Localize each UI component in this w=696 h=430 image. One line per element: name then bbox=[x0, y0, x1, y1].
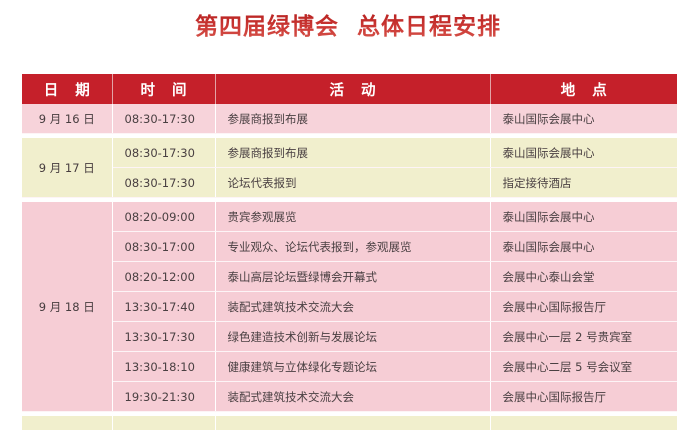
cell-activity: 参展商报到布展 bbox=[215, 104, 490, 134]
cell-activity: 装配式建筑技术交流大会 bbox=[215, 292, 490, 322]
cell-time: 13:30-18:10 bbox=[112, 352, 215, 382]
cell-location: 泰山国际会展中心 bbox=[490, 232, 677, 262]
cell-activity: 绿色建造技术创新与发展论坛 bbox=[215, 322, 490, 352]
table-row: 19:30-21:30装配式建筑技术交流大会会展中心国际报告厅 bbox=[22, 382, 677, 412]
cell-location: 会展中心国际报告厅 bbox=[490, 382, 677, 412]
table-row: 08:20-12:00泰山高层论坛暨绿博会开幕式会展中心泰山会堂 bbox=[22, 262, 677, 292]
table-row: 9 月 18 日08:20-09:00贵宾参观展览泰山国际会展中心 bbox=[22, 202, 677, 232]
column-header-location: 地 点 bbox=[490, 74, 677, 104]
cell-clipped bbox=[22, 416, 112, 430]
cell-activity: 泰山高层论坛暨绿博会开幕式 bbox=[215, 262, 490, 292]
cell-time: 08:30-17:30 bbox=[112, 138, 215, 168]
cell-location: 泰山国际会展中心 bbox=[490, 104, 677, 134]
cell-time: 13:30-17:30 bbox=[112, 322, 215, 352]
column-header-date: 日 期 bbox=[22, 74, 112, 104]
table-row: 9 月 17 日08:30-17:30参展商报到布展泰山国际会展中心 bbox=[22, 138, 677, 168]
cell-location: 会展中心泰山会堂 bbox=[490, 262, 677, 292]
cell-time: 08:20-12:00 bbox=[112, 262, 215, 292]
cell-clipped bbox=[490, 416, 677, 430]
table-row-clipped bbox=[22, 416, 677, 430]
schedule-table: 日 期 时 间 活 动 地 点 9 月 16 日08:30-17:30参展商报到… bbox=[22, 74, 677, 430]
page-title: 第四届绿博会 总体日程安排 bbox=[0, 12, 696, 42]
cell-date: 9 月 18 日 bbox=[22, 202, 112, 412]
cell-activity: 装配式建筑技术交流大会 bbox=[215, 382, 490, 412]
cell-time: 08:30-17:30 bbox=[112, 168, 215, 198]
cell-location: 泰山国际会展中心 bbox=[490, 138, 677, 168]
table-row: 08:30-17:30论坛代表报到指定接待酒店 bbox=[22, 168, 677, 198]
cell-activity: 专业观众、论坛代表报到，参观展览 bbox=[215, 232, 490, 262]
table-row: 13:30-17:30绿色建造技术创新与发展论坛会展中心一层 2 号贵宾室 bbox=[22, 322, 677, 352]
table-header-row: 日 期 时 间 活 动 地 点 bbox=[22, 74, 677, 104]
table-row: 08:30-17:00专业观众、论坛代表报到，参观展览泰山国际会展中心 bbox=[22, 232, 677, 262]
cell-activity: 参展商报到布展 bbox=[215, 138, 490, 168]
cell-location: 指定接待酒店 bbox=[490, 168, 677, 198]
schedule-page: 第四届绿博会 总体日程安排 日 期 时 间 活 动 地 点 9 月 16 日08… bbox=[0, 0, 696, 420]
cell-time: 08:20-09:00 bbox=[112, 202, 215, 232]
cell-location: 会展中心国际报告厅 bbox=[490, 292, 677, 322]
cell-location: 会展中心二层 5 号会议室 bbox=[490, 352, 677, 382]
table-row: 9 月 16 日08:30-17:30参展商报到布展泰山国际会展中心 bbox=[22, 104, 677, 134]
table-row: 13:30-17:40装配式建筑技术交流大会会展中心国际报告厅 bbox=[22, 292, 677, 322]
table-body: 9 月 16 日08:30-17:30参展商报到布展泰山国际会展中心9 月 17… bbox=[22, 104, 677, 430]
cell-time: 19:30-21:30 bbox=[112, 382, 215, 412]
cell-activity: 论坛代表报到 bbox=[215, 168, 490, 198]
cell-time: 08:30-17:30 bbox=[112, 104, 215, 134]
cell-location: 泰山国际会展中心 bbox=[490, 202, 677, 232]
cell-date: 9 月 17 日 bbox=[22, 138, 112, 198]
table-header: 日 期 时 间 活 动 地 点 bbox=[22, 74, 677, 104]
cell-activity: 健康建筑与立体绿化专题论坛 bbox=[215, 352, 490, 382]
column-header-activity: 活 动 bbox=[215, 74, 490, 104]
page-title-text: 第四届绿博会 总体日程安排 bbox=[195, 12, 501, 42]
cell-clipped bbox=[215, 416, 490, 430]
cell-time: 13:30-17:40 bbox=[112, 292, 215, 322]
cell-time: 08:30-17:00 bbox=[112, 232, 215, 262]
column-header-time: 时 间 bbox=[112, 74, 215, 104]
table-row: 13:30-18:10健康建筑与立体绿化专题论坛会展中心二层 5 号会议室 bbox=[22, 352, 677, 382]
cell-activity: 贵宾参观展览 bbox=[215, 202, 490, 232]
cell-location: 会展中心一层 2 号贵宾室 bbox=[490, 322, 677, 352]
cell-clipped bbox=[112, 416, 215, 430]
cell-date: 9 月 16 日 bbox=[22, 104, 112, 134]
